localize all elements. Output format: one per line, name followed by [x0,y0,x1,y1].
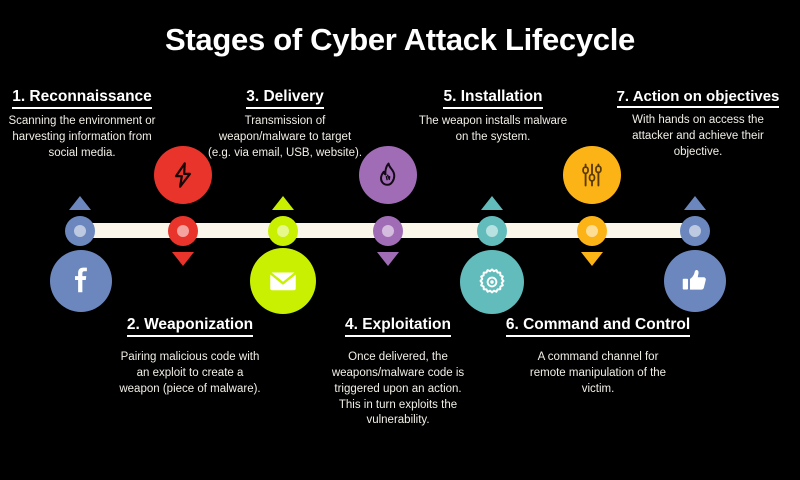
timeline-node-5[interactable] [477,216,507,246]
stage-description-7: With hands on access the attacker and ac… [598,113,798,161]
timeline-node-3[interactable] [268,216,298,246]
stage-marker-triangle-1 [69,196,91,210]
stage-description-6: A command channel for remote manipulatio… [483,342,713,398]
stage-text-6: 6. Command and Control A command channel… [483,316,713,398]
node-core [277,225,289,237]
stage-marker-triangle-4 [377,252,399,266]
envelope-icon [266,264,300,298]
stage-heading-4: 4. Exploitation [345,316,451,337]
stage-description-2: Pairing malicious code with an exploit t… [100,342,280,398]
node-core [382,225,394,237]
timeline-node-6[interactable] [577,216,607,246]
flame-icon [374,161,402,189]
node-core [74,225,86,237]
stage-heading-2: 2. Weaponization [127,316,253,337]
stage-marker-triangle-2 [172,252,194,266]
stage-marker-triangle-6 [581,252,603,266]
infographic-canvas: Stages of Cyber Attack Lifecycle 1. Reco… [0,0,800,480]
stage-marker-triangle-3 [272,196,294,210]
sliders-icon [578,161,606,189]
timeline-node-4[interactable] [373,216,403,246]
stage-marker-triangle-7 [684,196,706,210]
stage-marker-triangle-5 [481,196,503,210]
stage-description-3: Transmission of weapon/malware to target… [207,114,363,162]
stage-description-1: Scanning the environment or harvesting i… [2,114,162,162]
stage-text-5: 5. Installation The weapon installs malw… [417,88,569,146]
stage-text-1: 1. Reconnaissance Scanning the environme… [2,88,162,162]
stage-text-4: 4. Exploitation Once delivered, the weap… [313,316,483,429]
lightning-bolt-icon [169,161,197,189]
stage-text-2: 2. Weaponization Pairing malicious code … [100,316,280,398]
node-core [586,225,598,237]
stage-heading-5: 5. Installation [443,88,542,109]
stage-icon-circle-7[interactable] [664,250,726,312]
timeline-node-2[interactable] [168,216,198,246]
stage-heading-3: 3. Delivery [246,88,324,109]
stage-icon-circle-3[interactable] [250,248,316,314]
page-title: Stages of Cyber Attack Lifecycle [0,22,800,58]
timeline-node-7[interactable] [680,216,710,246]
node-core [689,225,701,237]
thumbs-up-icon [680,266,710,296]
node-core [486,225,498,237]
stage-description-4: Once delivered, the weapons/malware code… [313,342,483,429]
stage-heading-6: 6. Command and Control [506,316,690,337]
stage-heading-7: 7. Action on objectives [617,88,780,108]
stage-icon-circle-4[interactable] [359,146,417,204]
stage-icon-circle-6[interactable] [563,146,621,204]
facebook-icon [66,266,96,296]
stage-text-7: 7. Action on objectives With hands on ac… [598,88,798,161]
stage-icon-circle-2[interactable] [154,146,212,204]
node-core [177,225,189,237]
stage-icon-circle-5[interactable] [460,250,524,314]
gear-icon [476,266,508,298]
stage-text-3: 3. Delivery Transmission of weapon/malwa… [207,88,363,162]
stage-icon-circle-1[interactable] [50,250,112,312]
stage-description-5: The weapon installs malware on the syste… [417,114,569,146]
timeline-node-1[interactable] [65,216,95,246]
stage-heading-1: 1. Reconnaissance [12,88,152,109]
